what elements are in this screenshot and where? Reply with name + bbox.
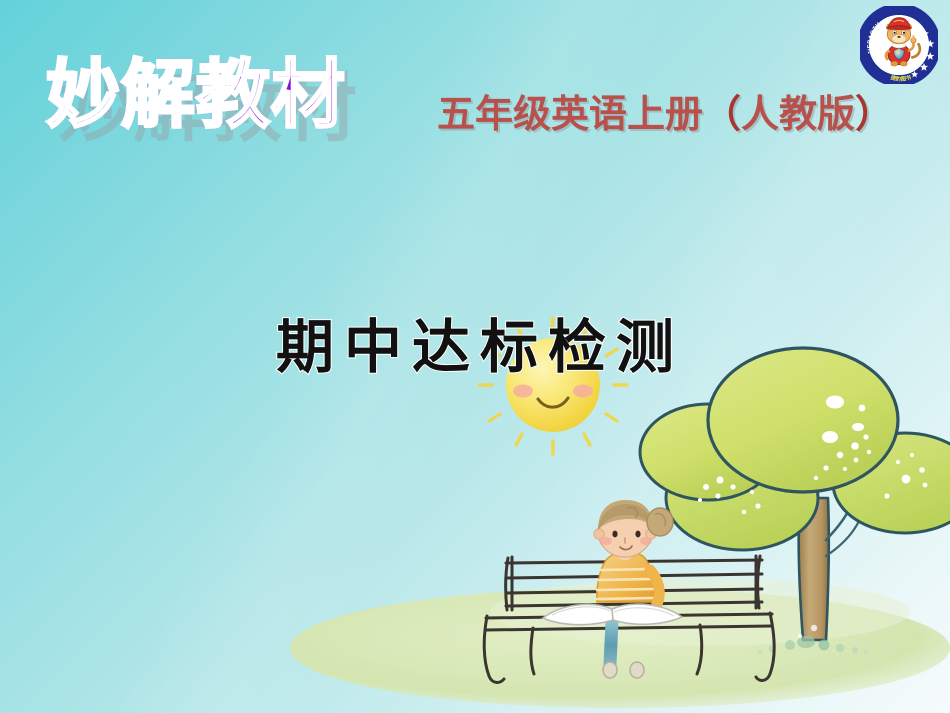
subtitle-paren-close: ） xyxy=(855,91,893,136)
grass-tuft xyxy=(758,625,868,654)
girl-reading xyxy=(543,500,682,678)
lawn-ellipse xyxy=(290,578,950,708)
brand-title: 妙解教材 xyxy=(46,58,346,132)
subtitle: 五年级英语上册（人教版） xyxy=(437,95,893,133)
park-bench xyxy=(484,556,774,682)
tree xyxy=(640,348,950,654)
canopy-highlight-dots xyxy=(698,396,927,515)
header: 妙解教材 妙解教材 五年级英语上册（人教版） xyxy=(0,0,950,175)
subtitle-paren-open: （ xyxy=(703,91,741,136)
slide-canvas: 妙解教材 妙解教材 五年级英语上册（人教版） xyxy=(0,0,950,713)
page-title: 期中达标检测 xyxy=(276,318,684,376)
subtitle-edition: 人教版 xyxy=(741,91,855,136)
subtitle-grade-subject: 五年级英语上册 xyxy=(437,91,703,136)
jiebaotushu-badge-logo: JIEBAOTUSHU 捷豹图书 xyxy=(860,6,938,84)
